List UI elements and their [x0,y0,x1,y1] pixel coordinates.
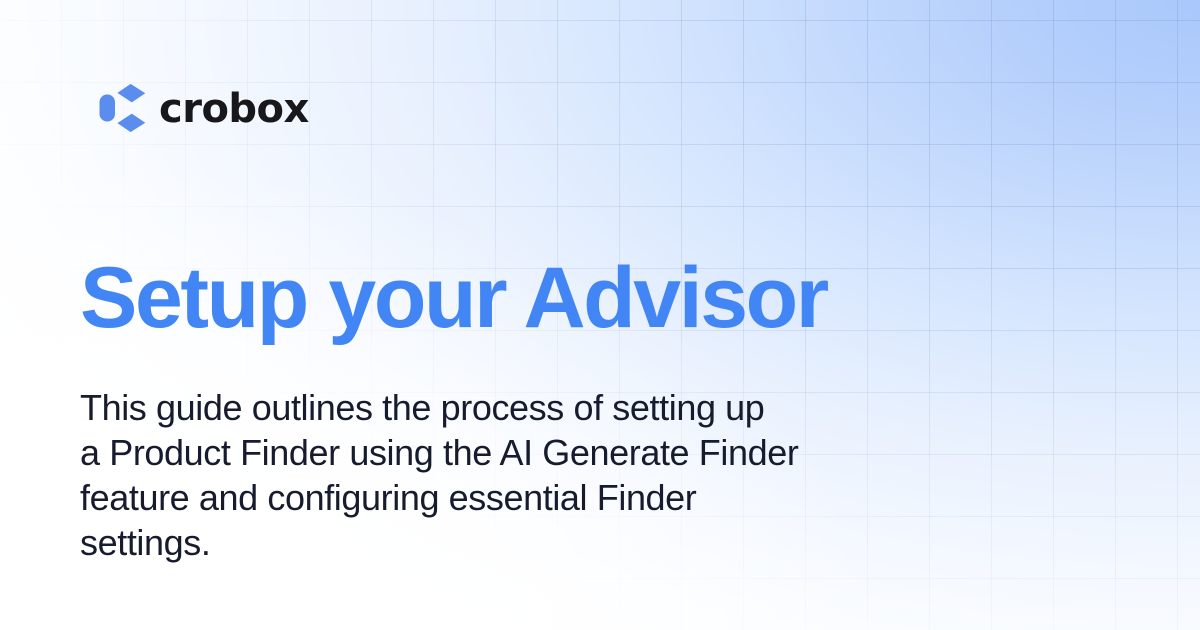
page-title: Setup your Advisor [80,255,827,343]
crobox-hexagon-c-logo-icon [99,83,146,133]
hero-description-line: This guide outlines the process of setti… [80,385,900,430]
hero-description-line: a Product Finder using the AI Generate F… [80,430,900,475]
hero-banner: crobox Setup your Advisor This guide out… [0,0,1200,630]
hero-content: crobox Setup your Advisor This guide out… [0,0,1200,630]
hero-description: This guide outlines the process of setti… [80,385,900,565]
crobox-wordmark: crobox [159,89,309,129]
hero-description-line: feature and configuring essential Finder [80,475,900,520]
hero-description-line: settings. [80,520,900,565]
crobox-logo-lockup[interactable]: crobox [99,83,309,133]
